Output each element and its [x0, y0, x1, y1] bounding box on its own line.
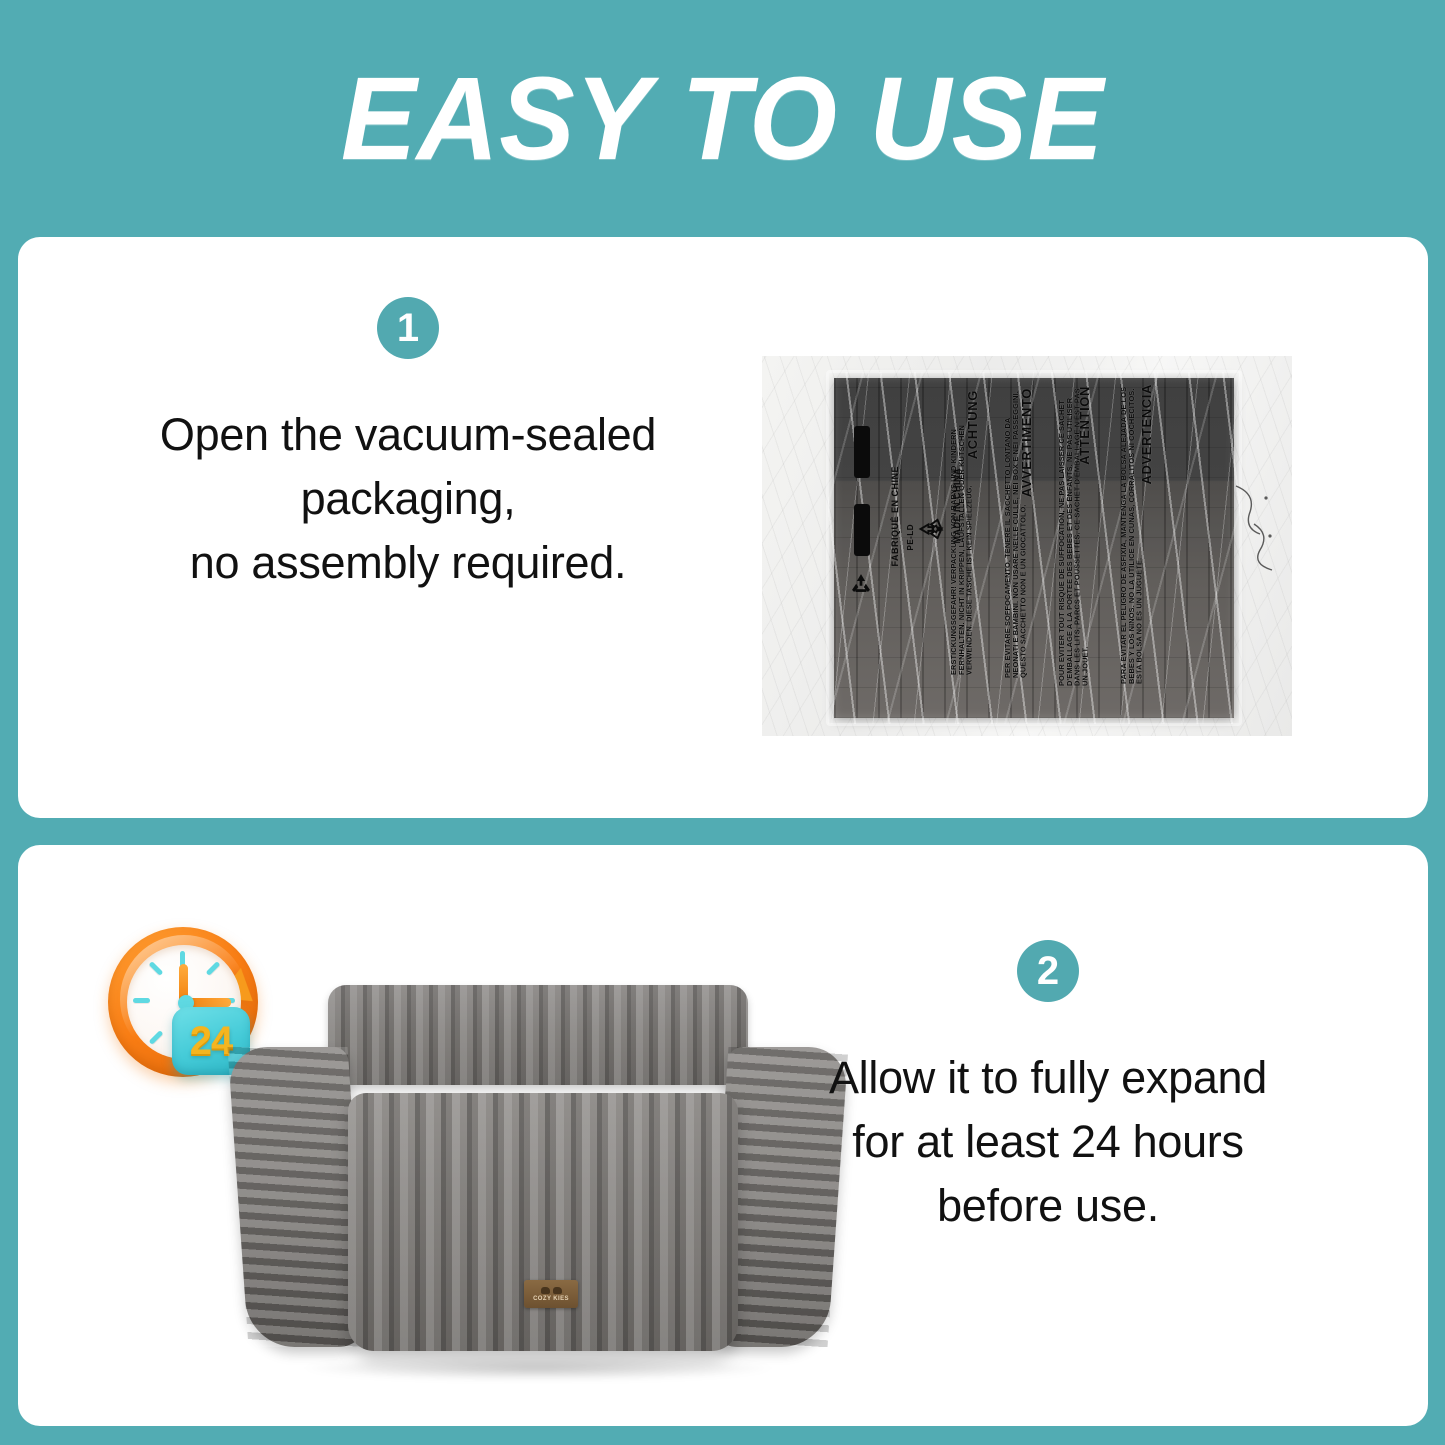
step-1-line-1: Open the vacuum-sealed: [160, 403, 656, 467]
warning-body-it: PER EVITARE SOFFOCAMENTO, TENERE IL SACC…: [1004, 388, 1034, 678]
step-1-number-badge: 1: [377, 297, 439, 359]
step-2-text-block: 2 Allow it to fully expand for at least …: [718, 940, 1378, 1238]
mobius-loop-icon: [850, 572, 872, 594]
warning-body-fr: POUR EVITER TOUT RISQUE DE SUFFOCATION, …: [1058, 386, 1092, 686]
vacuum-package-photo: ADVERTENCIA PARA EVITAR EL PELIGRO DE AS…: [762, 356, 1292, 736]
made-in-china-mark: MADE IN CHINA: [952, 468, 962, 544]
step-2-description: Allow it to fully expand for at least 24…: [829, 1046, 1267, 1238]
hours-badge-label: 24: [190, 1021, 233, 1061]
step-1-card: 1 Open the vacuum-sealed packaging, no a…: [18, 237, 1428, 818]
bed-backrest: [328, 985, 748, 1085]
fabrique-en-chine-mark: FABRIQUÉ EN CHINE: [890, 466, 900, 567]
step-2-line-2: for at least 24 hours: [829, 1110, 1267, 1174]
bag-sketch-lines: [1226, 476, 1296, 596]
step-2-card: 24 COZY KIES 2 Allow it to fully expand …: [18, 845, 1428, 1426]
brand-tag-label: COZY KIES: [533, 1296, 569, 1302]
bag-seal-edge: [826, 370, 1242, 726]
bed-seat-cushion: [348, 1093, 738, 1351]
brand-tag: COZY KIES: [524, 1280, 578, 1308]
header-banner: EASY TO USE: [0, 0, 1445, 237]
pet-silhouette-icon: [541, 1287, 562, 1294]
recycling-symbol-icon: [918, 516, 944, 542]
page-title: EASY TO USE: [341, 60, 1104, 178]
step-2-number-badge: 2: [1017, 940, 1079, 1002]
care-label-icon-2: [854, 504, 870, 556]
care-label-icon: [854, 426, 870, 478]
step-2-line-3: before use.: [829, 1174, 1267, 1238]
step-2-line-1: Allow it to fully expand: [829, 1046, 1267, 1110]
step-1-line-2: packaging,: [160, 467, 656, 531]
step-1-line-3: no assembly required.: [160, 531, 656, 595]
step-1-description: Open the vacuum-sealed packaging, no ass…: [160, 403, 656, 595]
bed-drop-shadow: [298, 1355, 778, 1381]
warning-body-es: PARA EVITAR EL PELIGRO DE ASFIXIA, MANTE…: [1120, 384, 1154, 684]
step-1-text-block: 1 Open the vacuum-sealed packaging, no a…: [78, 297, 738, 595]
pe-ld-mark: PE-LD: [906, 524, 915, 551]
